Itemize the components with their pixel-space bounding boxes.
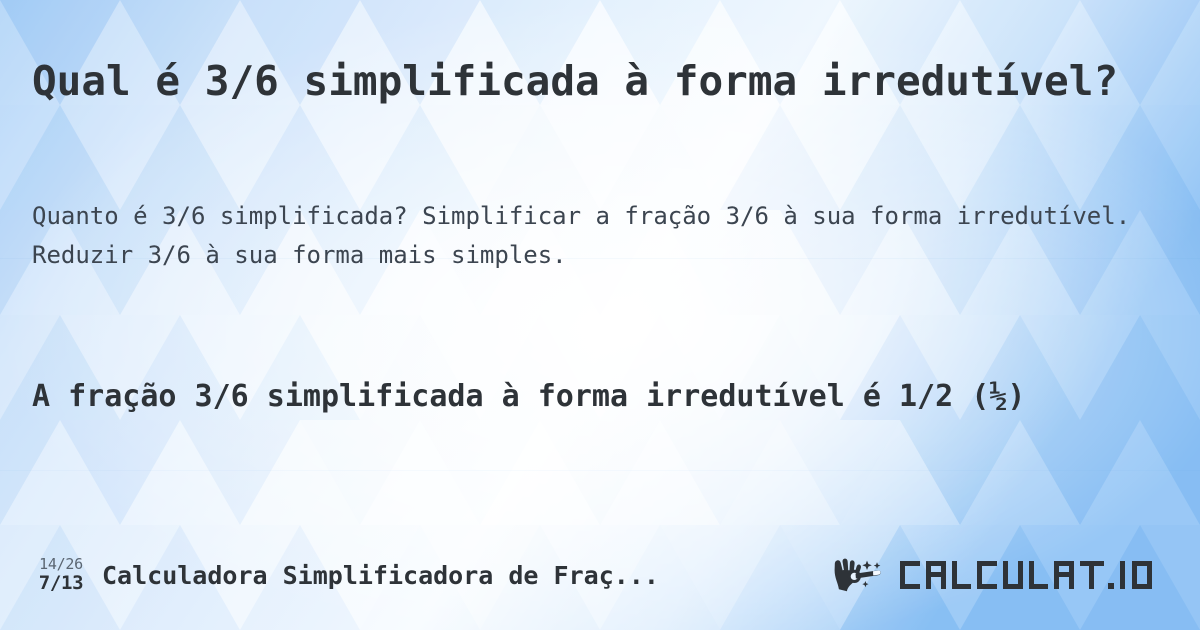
badge-simplified-fraction: 7/13 [39, 574, 84, 593]
card-footer: 14/26 7/13 Calculadora Simplificadora de… [0, 545, 1200, 605]
footer-section-title: Calculadora Simplificadora de Fraç... [102, 561, 659, 590]
magic-wand-hand-icon [834, 555, 892, 595]
badge-original-fraction: 14/26 [39, 557, 83, 572]
page-description: Quanto é 3/6 simplificada? Simplificar a… [32, 197, 1142, 275]
fraction-simplify-badge-icon: 14/26 7/13 [30, 557, 92, 593]
answer-statement: A fração 3/6 simplificada à forma irredu… [32, 375, 1172, 419]
brand-logo[interactable]: CALCULAT.IO [834, 555, 1178, 595]
share-card: Qual é 3/6 simplificada à forma irredutí… [0, 0, 1200, 630]
page-title: Qual é 3/6 simplificada à forma irredutí… [32, 55, 1172, 108]
card-content: Qual é 3/6 simplificada à forma irredutí… [0, 0, 1200, 630]
calculatio-wordmark: CALCULAT.IO [898, 555, 1178, 595]
